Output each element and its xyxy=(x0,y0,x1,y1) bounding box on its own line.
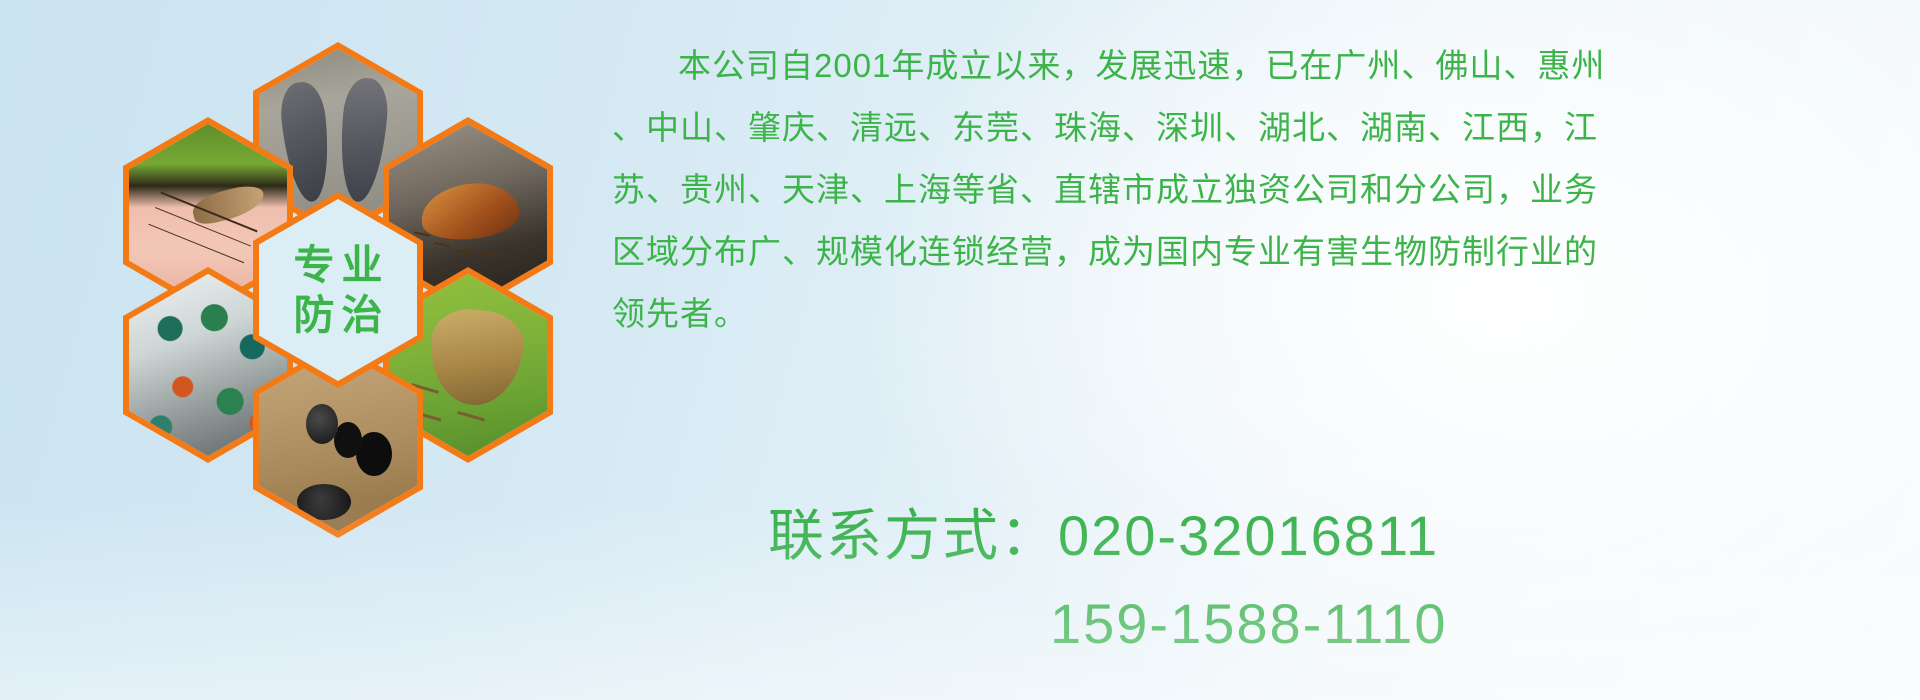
slogan-text: 专业 防治 xyxy=(259,199,417,381)
hex-center-frame: 专业 防治 xyxy=(259,199,417,381)
description-line-2: 、中山、肇庆、清远、东莞、珠海、深圳、湖北、湖南、江西，江 xyxy=(612,100,1902,155)
honeycomb-collage: 专业 防治 xyxy=(88,0,588,580)
slogan-line-1: 专业 xyxy=(287,243,390,287)
company-description: 本公司自2001年成立以来，发展迅速，已在广州、佛山、惠州 、中山、肇庆、清远、… xyxy=(612,38,1902,348)
contact-block: 联系方式：020-32016811 159-1588-1110 xyxy=(768,492,1448,668)
description-line-4: 区域分布广、规模化连锁经营，成为国内专业有害生物防制行业的 xyxy=(612,224,1902,279)
slogan-line-2: 防治 xyxy=(287,293,390,337)
contact-phone-mobile[interactable]: 159-1588-1110 xyxy=(768,580,1448,668)
contact-phone-landline[interactable]: 联系方式：020-32016811 xyxy=(768,492,1448,580)
promo-banner: 专业 防治 本公司自2001年成立以来，发展迅速，已在广州、佛山、惠州 、中山、… xyxy=(0,0,1920,700)
description-line-3: 苏、贵州、天津、上海等省、直辖市成立独资公司和分公司，业务 xyxy=(612,162,1902,217)
description-line-1: 本公司自2001年成立以来，发展迅速，已在广州、佛山、惠州 xyxy=(612,38,1902,93)
description-line-5: 领先者。 xyxy=(612,286,1902,341)
